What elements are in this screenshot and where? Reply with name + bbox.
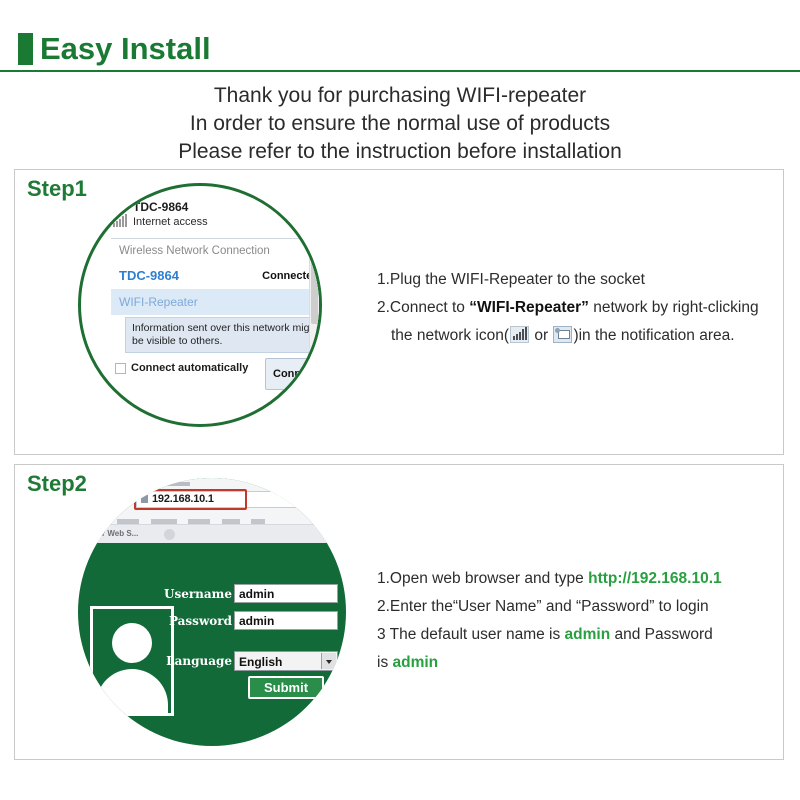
step1-label: Step1: [27, 176, 87, 202]
step1-instruction-line-3: the network icon( or )in the notificatio…: [377, 322, 759, 350]
step1-line3-part-a: the network icon(: [391, 327, 509, 344]
connect-automatically-checkbox[interactable]: [115, 363, 126, 374]
network-name: TDC-9864: [119, 268, 179, 283]
connect-button[interactable]: Connect: [265, 358, 322, 390]
step2-instruction-line-2: 2.Enter the“User Name” and “Password” to…: [377, 593, 722, 621]
network-list-item-tdc[interactable]: TDC-9864 Connected: [111, 263, 322, 289]
username-label: Username: [142, 587, 232, 601]
step1-illustration-circle: TDC-9864 Internet access Wireless Networ…: [78, 183, 322, 427]
new-tab-icon[interactable]: [164, 529, 175, 540]
browser-tab-title[interactable]: eater Web S...: [86, 529, 138, 538]
browser-chrome: 192.168.10.1 eater Web S...: [78, 478, 346, 542]
connect-automatically-label: Connect automatically: [131, 362, 248, 374]
wireless-section-header[interactable]: Wireless Network Connection: [111, 239, 322, 263]
step1-line2-network-name: “WIFI-Repeater”: [469, 299, 589, 316]
header-divider: [0, 70, 800, 72]
network-list-item-repeater[interactable]: WIFI-Repeater: [111, 289, 322, 315]
network-name: WIFI-Repeater: [119, 295, 198, 309]
scrollbar-thumb[interactable]: [311, 228, 318, 324]
browser-titlebar-text: [150, 482, 190, 486]
password-row: Password admin: [186, 611, 338, 634]
wireless-section-title: Wireless Network Connection: [119, 245, 270, 257]
browser-tabstrip: eater Web S...: [78, 524, 346, 543]
network-monitor-icon: [553, 326, 572, 343]
step1-instruction-line-2: 2.Connect to “WIFI-Repeater” network by …: [377, 294, 759, 322]
step1-instructions: 1.Plug the WIFI-Repeater to the socket 2…: [377, 266, 759, 350]
submit-button[interactable]: Submit: [248, 676, 324, 699]
intro-line-2: In order to ensure the normal use of pro…: [0, 110, 800, 138]
password-label: Password: [142, 614, 232, 628]
dialog-current-connection: TDC-9864 Internet access: [111, 198, 322, 238]
current-status: Internet access: [133, 216, 208, 228]
step2-label: Step2: [27, 471, 87, 497]
step1-instruction-line-1: 1.Plug the WIFI-Repeater to the socket: [377, 266, 759, 294]
dialog-scrollbar[interactable]: [309, 226, 319, 348]
browser-toolbar: [96, 513, 306, 521]
step2-line4-password: admin: [393, 654, 439, 671]
address-bar-highlight: [134, 489, 247, 510]
form-spacer: [186, 638, 338, 651]
chevron-down-icon[interactable]: [321, 653, 336, 669]
step1-line3-part-c: )in the notification area.: [573, 327, 734, 344]
language-select-value: English: [239, 655, 282, 669]
intro-line-1: Thank you for purchasing WIFI-repeater: [0, 82, 800, 110]
step2-instruction-line-3: 3 The default user name is admin and Pas…: [377, 621, 722, 649]
step1-line3-part-b: or: [530, 327, 552, 344]
step2-instruction-line-4: is admin: [377, 649, 722, 677]
password-field[interactable]: admin: [234, 611, 338, 630]
wireless-network-dialog: TDC-9864 Internet access Wireless Networ…: [111, 198, 322, 381]
step1-line2-part-a: 2.Connect to: [377, 299, 469, 316]
page-header: Easy Install: [0, 0, 800, 76]
language-select[interactable]: English: [234, 651, 338, 671]
intro-line-3: Please refer to the instruction before i…: [0, 138, 800, 166]
step2-panel: Step2 192.168.10.1 eater Web S...: [14, 464, 784, 760]
current-ssid: TDC-9864: [133, 200, 188, 214]
header-accent-bar: [18, 33, 33, 65]
step2-line3-part-c: and Password: [610, 626, 713, 643]
signal-bars-icon: [510, 326, 529, 343]
step2-instruction-line-1: 1.Open web browser and type http://192.1…: [377, 565, 722, 593]
step2-line4-part-a: is: [377, 654, 393, 671]
step2-line3-part-a: 3 The default user name is: [377, 626, 565, 643]
login-form: Username admin Password admin Language E…: [186, 584, 338, 678]
step2-line3-username: admin: [565, 626, 611, 643]
step1-line2-part-c: network by right-clicking: [589, 299, 759, 316]
network-security-note: Information sent over this network might…: [125, 317, 322, 353]
username-row: Username admin: [186, 584, 338, 607]
page-title: Easy Install: [40, 31, 211, 67]
step1-panel: Step1 TDC-9864 Internet access Wireless …: [14, 169, 784, 455]
language-row: Language English: [186, 651, 338, 674]
step2-line1-part-a: 1.Open web browser and type: [377, 570, 588, 587]
username-field[interactable]: admin: [234, 584, 338, 603]
signal-bars-icon: [113, 214, 129, 228]
step2-instructions: 1.Open web browser and type http://192.1…: [377, 565, 722, 677]
dialog-footer: Connect automatically Connect: [111, 355, 322, 381]
avatar-body: [96, 669, 168, 716]
intro-block: Thank you for purchasing WIFI-repeater I…: [0, 82, 800, 166]
browser-logo-icon: [120, 494, 131, 505]
step2-line1-url: http://192.168.10.1: [588, 570, 722, 587]
step2-illustration-circle: 192.168.10.1 eater Web S... Username: [78, 478, 346, 746]
submit-row: Submit: [234, 676, 338, 699]
language-label: Language: [142, 654, 232, 668]
